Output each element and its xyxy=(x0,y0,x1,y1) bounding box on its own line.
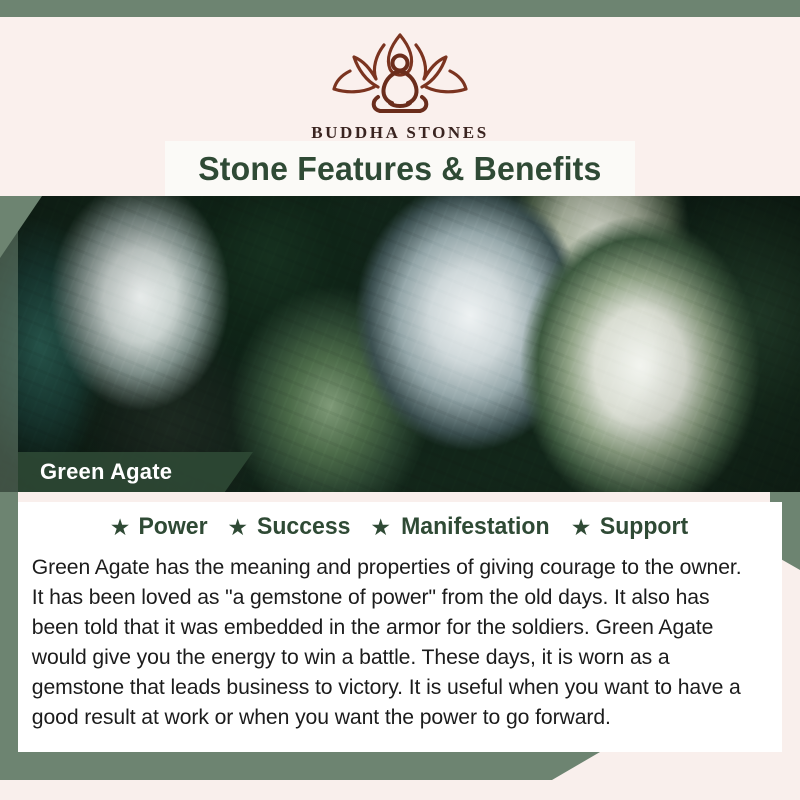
brand-logo-block: BUDDHA STONES xyxy=(0,25,800,143)
feature-support: ★ Support xyxy=(571,513,691,541)
lotus-meditation-logo-icon xyxy=(320,25,480,121)
feature-power: ★ Power xyxy=(110,513,210,541)
stone-name-banner: Green Agate xyxy=(18,452,253,492)
top-frame-accent xyxy=(0,0,800,17)
feature-manifestation: ★ Manifestation xyxy=(370,513,552,541)
stone-photo xyxy=(0,196,800,492)
left-frame-accent xyxy=(0,492,18,760)
feature-label: Manifestation xyxy=(401,513,550,541)
page-title-box: Stone Features & Benefits xyxy=(165,141,635,196)
star-icon: ★ xyxy=(571,516,592,539)
stone-photo-vignette xyxy=(0,196,800,492)
description-text: Green Agate has the meaning and properti… xyxy=(18,548,771,732)
header-section: BUDDHA STONES Stone Features & Benefits xyxy=(0,17,800,196)
feature-label: Support xyxy=(600,513,688,541)
feature-success: ★ Success xyxy=(227,513,352,541)
infographic-page: BUDDHA STONES Stone Features & Benefits … xyxy=(0,0,800,800)
bottom-frame-accent xyxy=(0,752,600,780)
feature-label: Success xyxy=(257,513,351,541)
page-title: Stone Features & Benefits xyxy=(198,150,601,188)
feature-label: Power xyxy=(139,513,208,541)
star-icon: ★ xyxy=(110,516,131,539)
star-icon: ★ xyxy=(227,516,248,539)
star-icon: ★ xyxy=(370,516,391,539)
description-card: ★ Power ★ Success ★ Manifestation ★ Supp… xyxy=(18,502,782,752)
stone-name: Green Agate xyxy=(18,459,172,485)
photo-corner-accent xyxy=(0,196,42,258)
brand-name: BUDDHA STONES xyxy=(0,123,800,143)
features-row: ★ Power ★ Success ★ Manifestation ★ Supp… xyxy=(18,502,782,548)
